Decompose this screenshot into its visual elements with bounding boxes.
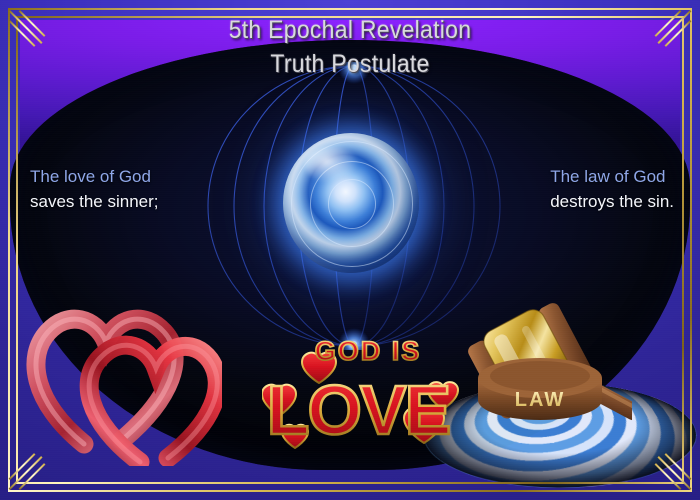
poster-canvas: 5th Epochal Revelation Truth Postulate T… (0, 0, 700, 500)
frame-inner (16, 16, 684, 484)
corner-ornament-top-right (646, 8, 692, 54)
corner-ornament-top-left (8, 8, 54, 54)
corner-ornament-bottom-right (646, 446, 692, 492)
corner-ornament-bottom-left (8, 446, 54, 492)
